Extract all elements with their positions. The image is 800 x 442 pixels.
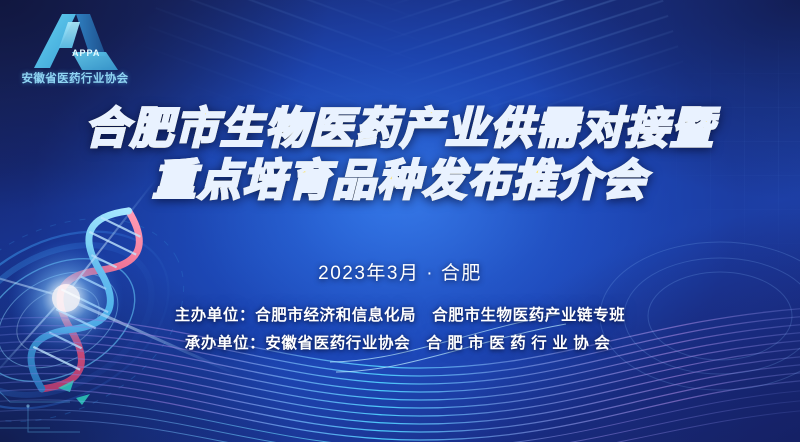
host-org-1: 合肥市经济和信息化局 — [255, 307, 416, 324]
circuit-traces — [0, 360, 80, 442]
event-date-location: 2023年3月 · 合肥 — [0, 258, 800, 285]
host-label: 主办单位： — [175, 307, 256, 324]
logo-wordmark: APPA — [72, 48, 100, 58]
organizer-org-2: 合肥市医药行业协会 — [426, 335, 615, 352]
association-logo: APPA 安徽省医药行业协会 — [10, 12, 140, 90]
dna-double-helix-icon — [18, 200, 152, 401]
background-vignette-bottom-right — [460, 212, 800, 442]
organizer-org-1: 安徽省医药行业协会 — [265, 335, 410, 352]
logo-caption: 安徽省医药行业协会 — [10, 70, 140, 86]
organizer-label: 承办单位： — [185, 335, 266, 352]
event-poster: APPA 安徽省医药行业协会 合肥市生物医药产业供需对接暨 重点培育品种发布推介… — [0, 0, 800, 442]
host-organizations: 主办单位：合肥市经济和信息化局合肥市生物医药产业链专班 — [0, 303, 800, 325]
organizer-organizations: 承办单位：安徽省医药行业协会合肥市医药行业协会 — [0, 331, 800, 353]
poster-title-line-1: 合肥市生物医药产业供需对接暨 — [0, 104, 800, 154]
host-org-2: 合肥市生物医药产业链专班 — [432, 307, 625, 324]
appa-letter-a-logo: APPA — [32, 12, 118, 70]
poster-title-line-2: 重点培育品种发布推介会 — [0, 156, 800, 206]
